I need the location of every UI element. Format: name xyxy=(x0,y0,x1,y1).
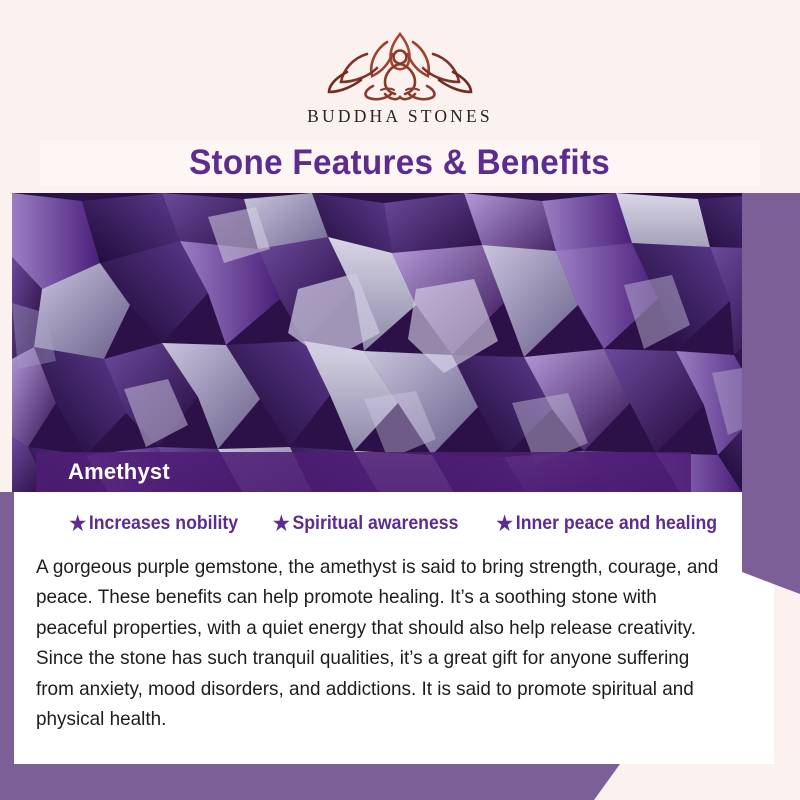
stone-description: A gorgeous purple gemstone, the amethyst… xyxy=(36,552,731,734)
stone-name-banner: Amethyst xyxy=(36,452,691,492)
amethyst-photo xyxy=(12,193,788,492)
lotus-meditation-icon xyxy=(325,24,475,104)
poster-root: Amethyst xyxy=(0,0,800,800)
content-card: ★ Increases nobility ★ Spiritual awarene… xyxy=(14,492,774,764)
benefits-list: ★ Increases nobility ★ Spiritual awarene… xyxy=(36,500,752,548)
brand-logo: BUDDHA STONES xyxy=(307,24,493,127)
brand-name: BUDDHA STONES xyxy=(307,106,493,127)
benefit-label: Increases nobility xyxy=(89,513,238,535)
poster-header: BUDDHA STONES Stone Features & Benefits xyxy=(0,0,800,193)
frame-accent-left xyxy=(0,492,14,764)
benefit-item: ★ Spiritual awareness xyxy=(273,513,458,535)
stone-name-label: Amethyst xyxy=(68,459,170,485)
frame-accent-bottom xyxy=(0,764,620,800)
page-title: Stone Features & Benefits xyxy=(190,143,611,183)
title-band: Stone Features & Benefits xyxy=(40,140,760,185)
benefit-item: ★ Inner peace and healing xyxy=(496,513,717,535)
star-icon: ★ xyxy=(273,514,290,534)
star-icon: ★ xyxy=(69,514,86,534)
star-icon: ★ xyxy=(496,514,513,534)
benefit-item: ★ Increases nobility xyxy=(69,513,238,535)
benefit-label: Spiritual awareness xyxy=(293,513,459,535)
benefit-label: Inner peace and healing xyxy=(516,513,717,535)
